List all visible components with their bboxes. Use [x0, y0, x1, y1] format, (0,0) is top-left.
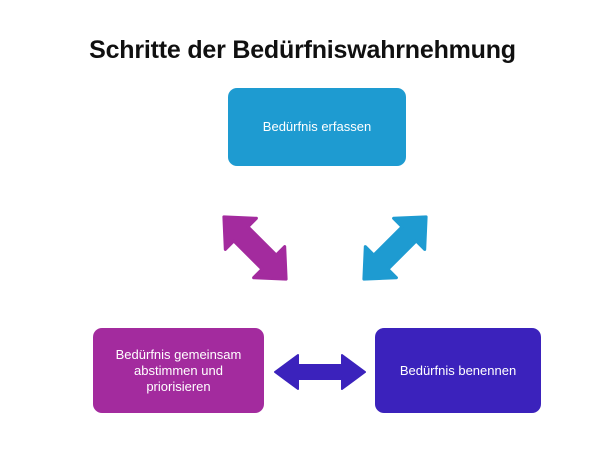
page-title: Schritte der Bedürfniswahrnehmung: [0, 36, 605, 65]
node-beduerfnis-benennen[interactable]: Bedürfnis benennen: [375, 328, 541, 413]
diagram-canvas: Schritte der Bedürfniswahrnehmung Bedürf…: [0, 0, 605, 473]
node-label-name: Bedürfnis benennen: [400, 363, 516, 379]
double-arrow-icon-right-diagonal: [345, 198, 445, 298]
double-arrow-icon-left-diagonal: [205, 198, 305, 298]
double-arrow-icon-bottom-horizontal: [272, 352, 368, 392]
node-label-prioritize: Bedürfnis gemeinsam abstimmen und priori…: [116, 347, 242, 395]
node-label-capture: Bedürfnis erfassen: [263, 119, 371, 135]
node-beduerfnis-gemeinsam-abstimmen-und-priorisieren[interactable]: Bedürfnis gemeinsam abstimmen und priori…: [93, 328, 264, 413]
node-beduerfnis-erfassen[interactable]: Bedürfnis erfassen: [228, 88, 406, 166]
